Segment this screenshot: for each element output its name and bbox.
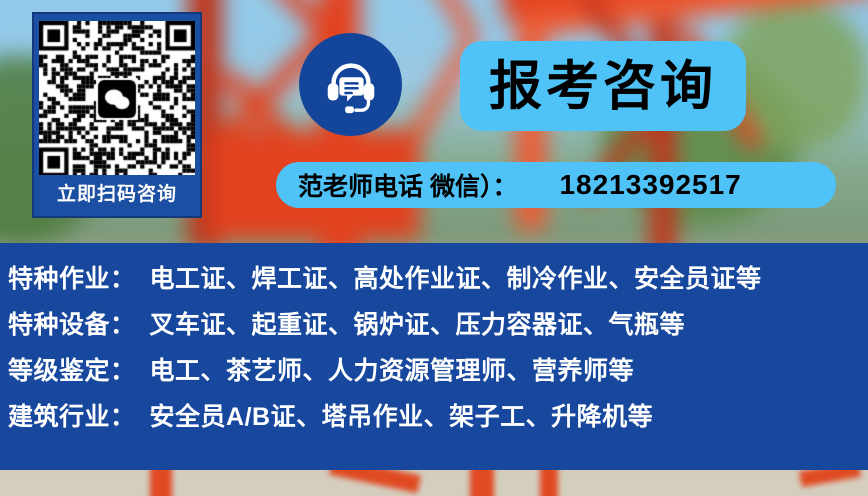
info-row-category: 建筑行业： bbox=[8, 397, 136, 433]
certification-list-panel: 特种作业： 电工证、焊工证、高处作业证、制冷作业、安全员证等 特种设备： 叉车证… bbox=[0, 243, 868, 470]
promo-poster: 立即扫码咨询 报考咨询 bbox=[0, 0, 868, 496]
info-row-items: 叉车证、起重证、锅炉证、压力容器证、气瓶等 bbox=[150, 305, 686, 341]
info-row-items: 电工、茶艺师、人力资源管理师、营养师等 bbox=[150, 351, 635, 387]
bottom-photo-strip bbox=[0, 470, 868, 496]
headset-support-icon bbox=[320, 54, 382, 116]
info-row: 等级鉴定： 电工、茶艺师、人力资源管理师、营养师等 bbox=[0, 351, 868, 397]
headset-support-badge bbox=[299, 33, 402, 136]
contact-number[interactable]: 18213392517 bbox=[559, 169, 741, 201]
contact-label: 范老师电话 微信）： bbox=[298, 167, 517, 203]
qr-code-card[interactable]: 立即扫码咨询 bbox=[32, 12, 202, 218]
info-row: 特种设备： 叉车证、起重证、锅炉证、压力容器证、气瓶等 bbox=[0, 305, 868, 351]
info-row: 建筑行业： 安全员A/B证、塔吊作业、架子工、升降机等 bbox=[0, 397, 868, 443]
info-row-category: 等级鉴定： bbox=[8, 351, 136, 387]
title-pill-text: 报考咨询 bbox=[489, 60, 717, 113]
info-row: 特种作业： 电工证、焊工证、高处作业证、制冷作业、安全员证等 bbox=[0, 259, 868, 305]
title-pill: 报考咨询 bbox=[460, 41, 746, 131]
info-row-category: 特种作业： bbox=[8, 259, 136, 295]
qr-caption: 立即扫码咨询 bbox=[57, 175, 177, 216]
contact-phone-pill[interactable]: 范老师电话 微信）： 18213392517 bbox=[276, 162, 836, 208]
qr-code-image[interactable] bbox=[39, 21, 195, 175]
info-row-items: 电工证、焊工证、高处作业证、制冷作业、安全员证等 bbox=[150, 259, 762, 295]
info-row-category: 特种设备： bbox=[8, 305, 136, 341]
info-row-items: 安全员A/B证、塔吊作业、架子工、升降机等 bbox=[150, 397, 654, 433]
